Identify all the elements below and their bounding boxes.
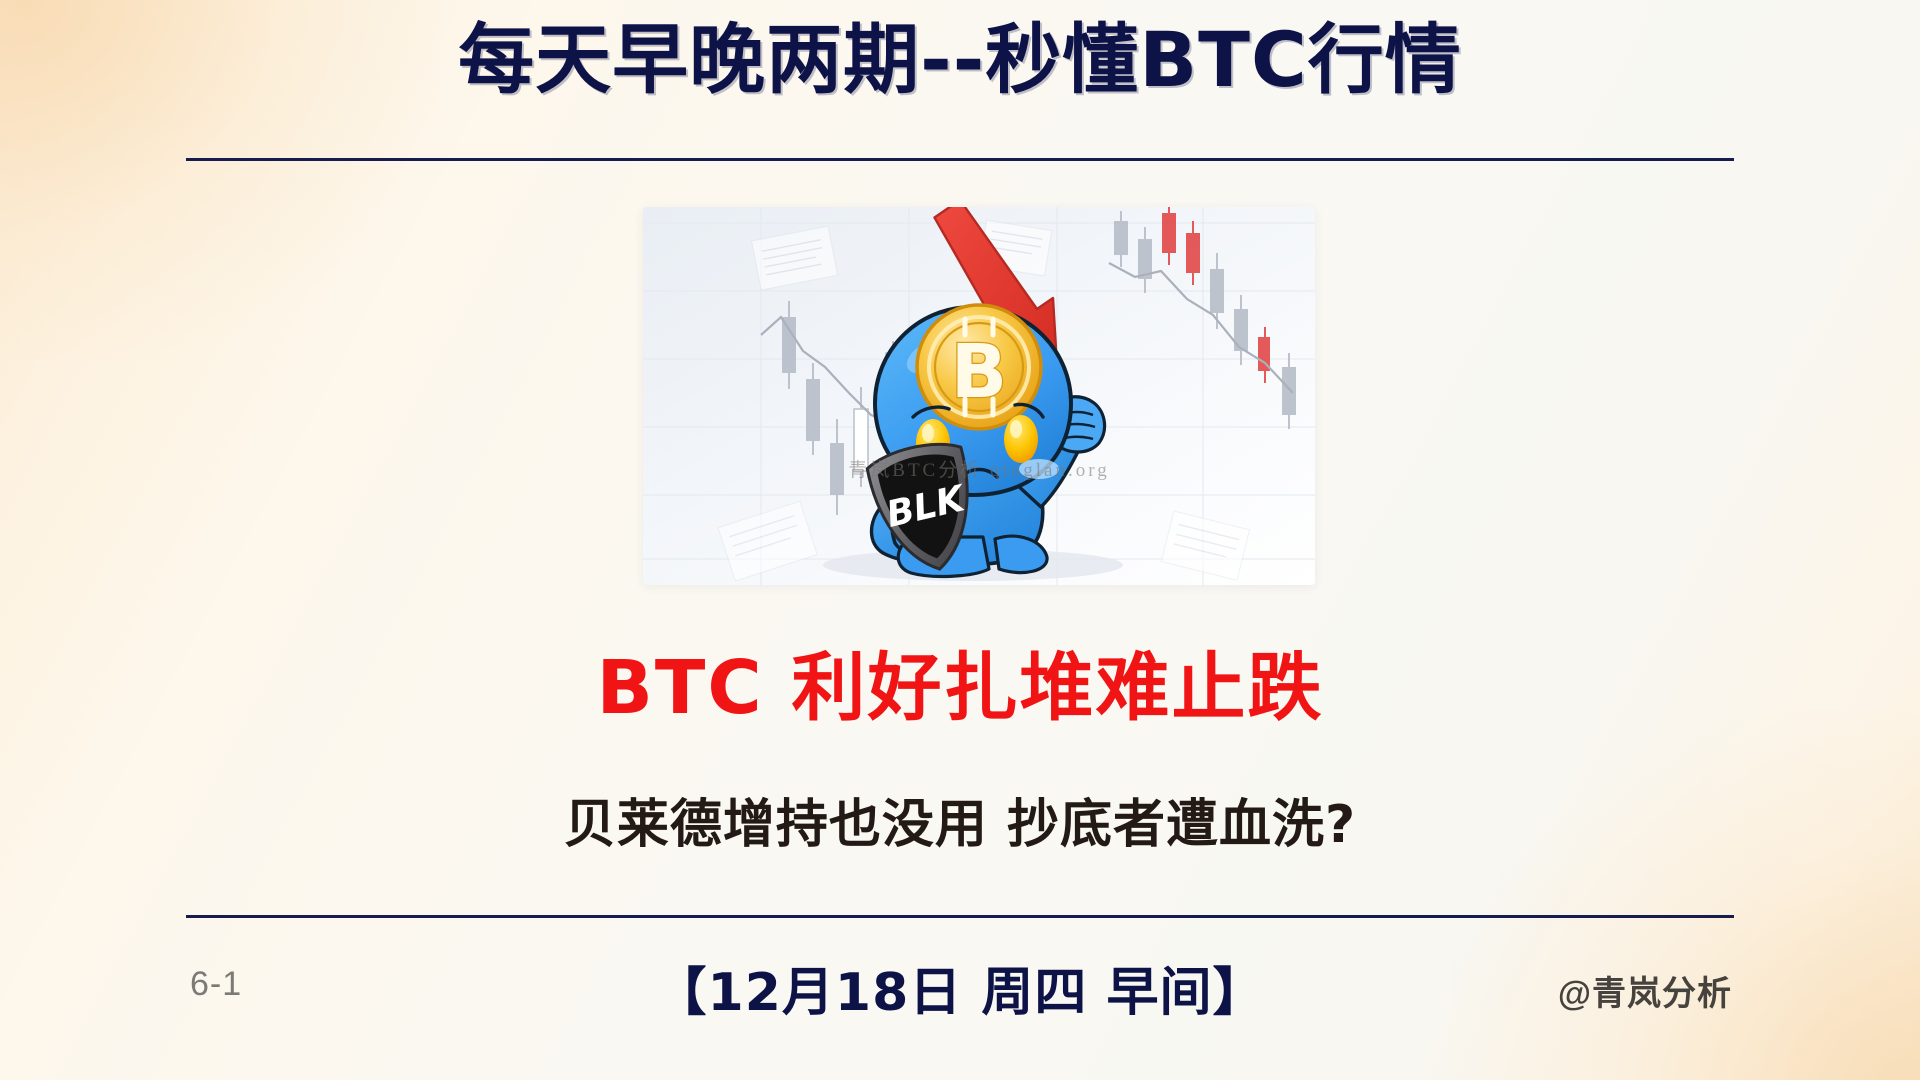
illustration-card: B — [643, 207, 1315, 585]
page-title: 每天早晚两期--秒懂BTC行情 — [458, 20, 1462, 101]
headline-primary: BTC 利好扎堆难止跌 — [0, 628, 1920, 735]
bitcoin-coin: B — [917, 305, 1041, 429]
headline-secondary: 贝莱德增持也没用 抄底者遭血洗? — [0, 782, 1920, 857]
divider-bottom — [186, 915, 1734, 918]
slide-root: 每天早晚两期--秒懂BTC行情 — [0, 0, 1920, 1080]
divider-top — [186, 158, 1734, 161]
svg-text:B: B — [951, 329, 1007, 415]
illustration-svg: B — [643, 207, 1315, 585]
title-block: 每天早晚两期--秒懂BTC行情 — [0, 20, 1920, 101]
author-handle: @青岚分析 — [1558, 966, 1732, 1015]
